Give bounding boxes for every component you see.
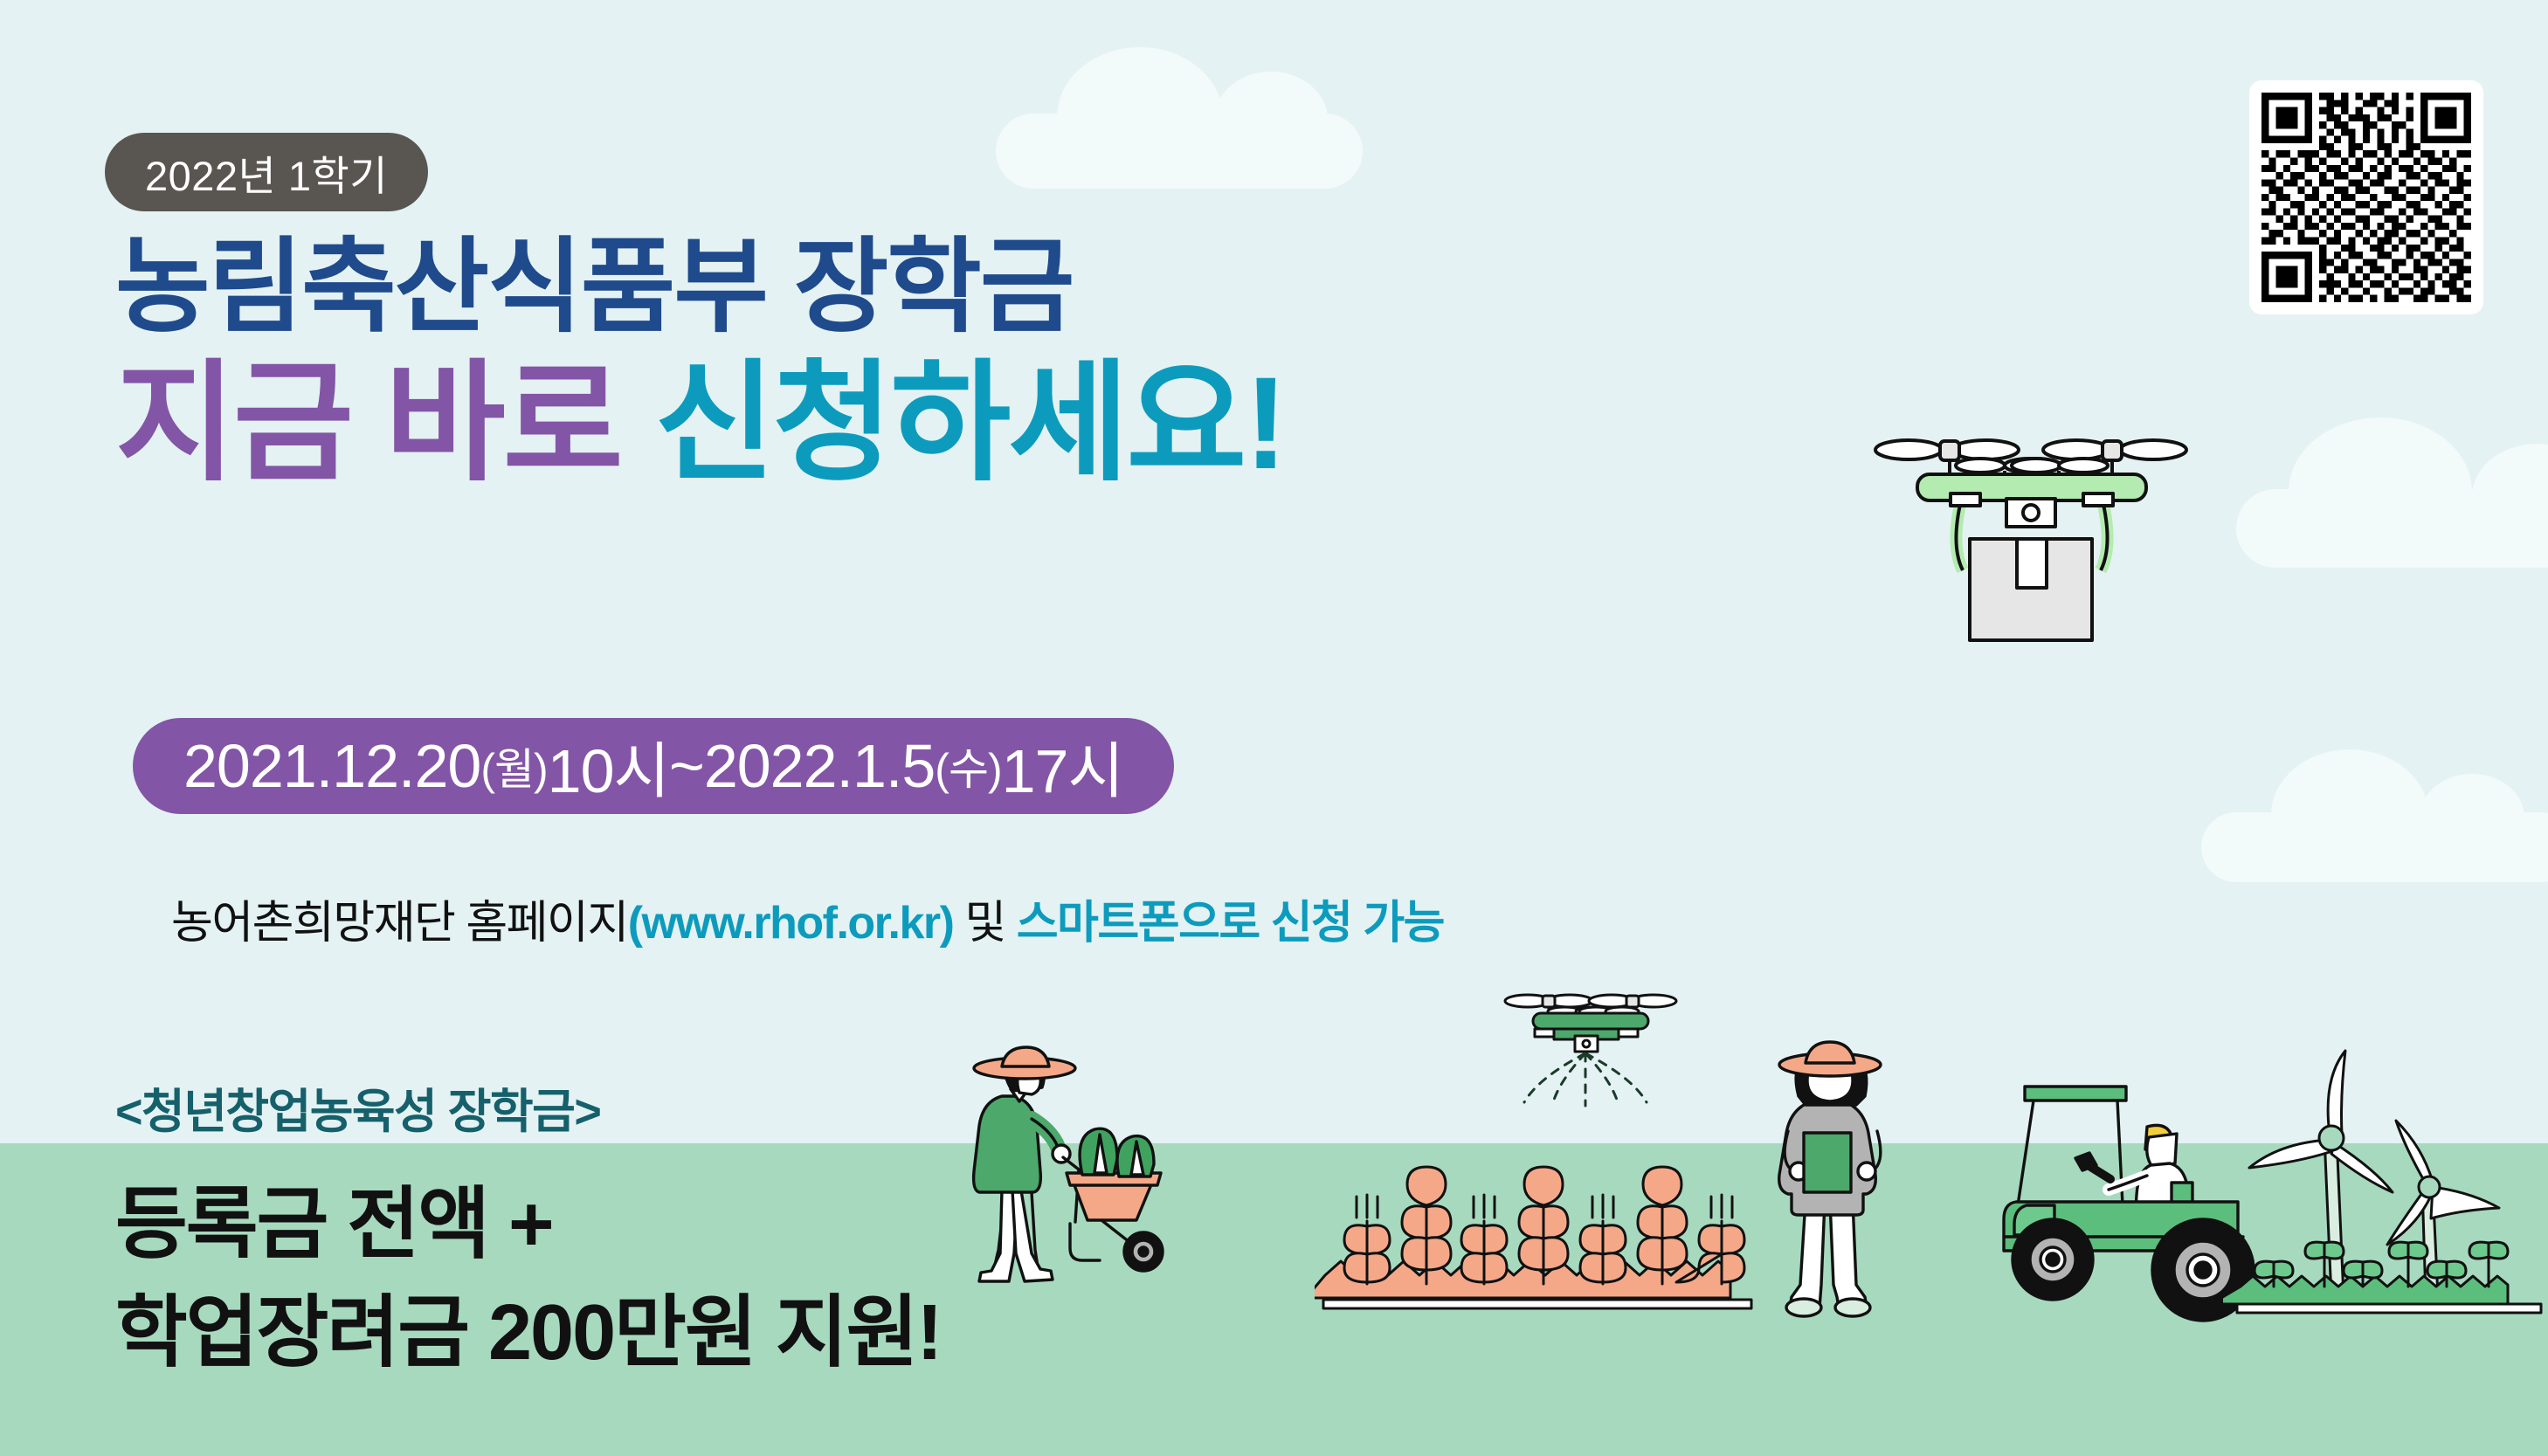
scholarship-type-label: <청년창업농육성 장학금> — [115, 1073, 600, 1142]
spraying-drone-field-illustration — [1315, 978, 1769, 1319]
cloud-decoration — [2236, 489, 2548, 568]
woman-tablet-illustration — [1769, 1035, 1926, 1323]
headline-block: 농림축산식품부 장학금 지금 바로 신청하세요! — [115, 234, 1950, 496]
page-title: 농림축산식품부 장학금 — [115, 234, 1950, 342]
cloud-decoration — [2201, 812, 2548, 882]
wind-turbines-illustration — [2223, 1026, 2548, 1323]
scholarship-promo-banner: 2022년 1학기 농림축산식품부 장학금 지금 바로 신청하세요! 2021.… — [0, 0, 2548, 1456]
cloud-decoration — [996, 114, 1363, 189]
start-time: 10시 — [548, 722, 669, 811]
semester-badge: 2022년 1학기 — [105, 133, 428, 211]
apply-note-conjunction: 및 — [953, 898, 1016, 949]
end-date: 2022.1.5 — [704, 731, 935, 801]
headline-cta: 지금 바로 신청하세요! — [115, 349, 1950, 496]
website-url[interactable]: (www.rhof.or.kr) — [628, 898, 954, 949]
qr-code[interactable] — [2249, 80, 2483, 314]
drone-delivery-illustration — [1874, 406, 2188, 659]
application-period-pill: 2021.12.20(월) 10시 ~ 2022.1.5(수) 17시 — [133, 718, 1174, 814]
end-time: 17시 — [1002, 722, 1123, 811]
benefit-line-2: 학업장려금 200만원 지원! — [115, 1279, 941, 1387]
end-day-of-week: (수) — [935, 735, 1001, 797]
start-day-of-week: (월) — [480, 735, 547, 797]
period-separator: ~ — [669, 731, 704, 801]
headline-cta-action: 신청하세요! — [654, 349, 1285, 496]
farmer-wheelbarrow-illustration — [948, 1035, 1236, 1323]
start-date: 2021.12.20 — [183, 731, 480, 801]
smartphone-note: 스마트폰으로 신청 가능 — [1017, 898, 1444, 949]
foundation-name: 농어촌희망재단 홈페이지 — [171, 898, 628, 949]
headline-cta-prefix: 지금 바로 — [115, 349, 654, 496]
apply-channel-note: 농어촌희망재단 홈페이지(www.rhof.or.kr) 및 스마트폰으로 신청… — [171, 886, 1444, 951]
benefit-line-1: 등록금 전액 + — [115, 1170, 941, 1279]
benefit-text: 등록금 전액 + 학업장려금 200만원 지원! — [115, 1170, 941, 1387]
